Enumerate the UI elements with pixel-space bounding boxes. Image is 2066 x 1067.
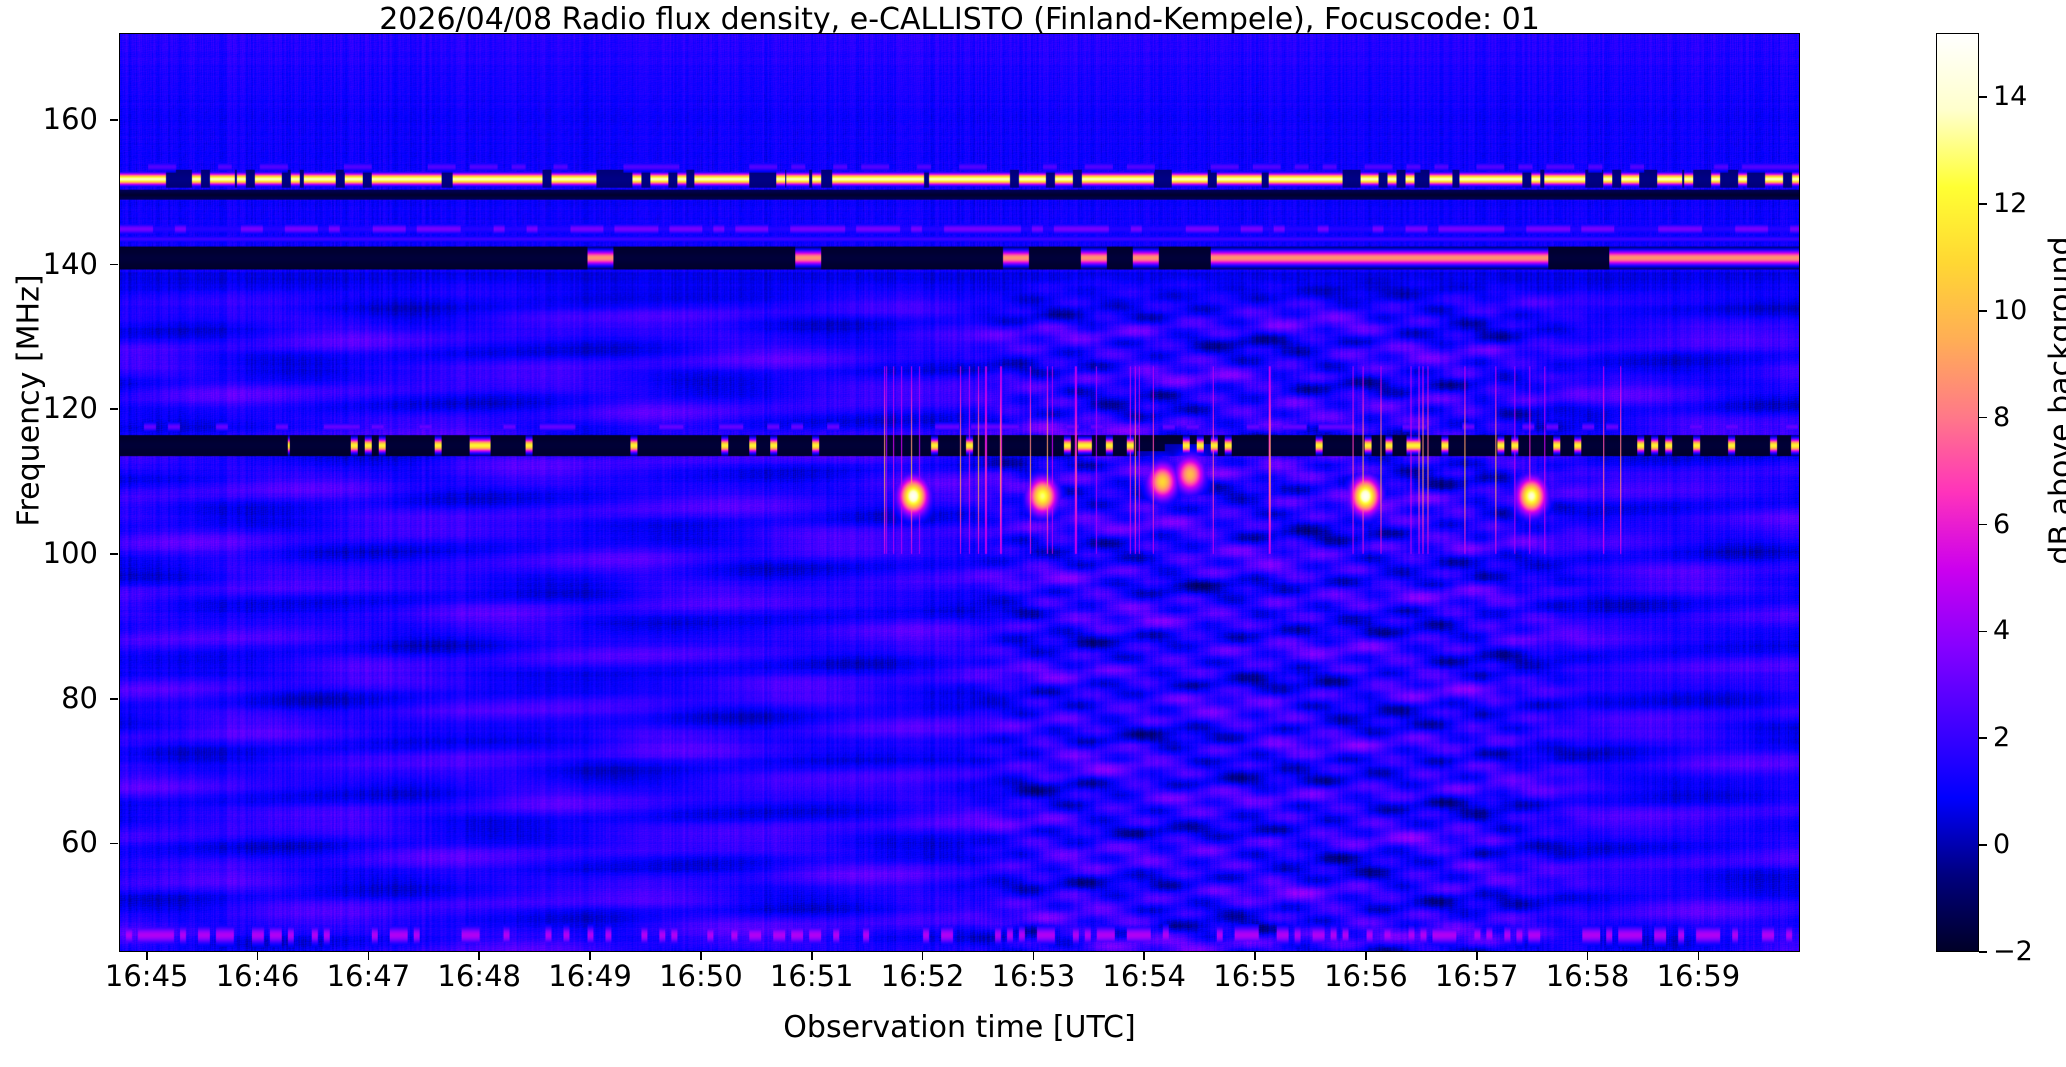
colorbar-tick-mark — [1979, 203, 1987, 205]
y-tick-mark — [110, 264, 118, 266]
colorbar-tick-label: 12 — [1993, 190, 2027, 217]
colorbar-gradient — [1937, 34, 1978, 951]
colorbar-tick-label: 0 — [1993, 831, 2010, 858]
x-tick-label: 16:59 — [1618, 962, 1778, 991]
y-tick-label: 140 — [0, 250, 98, 279]
figure-canvas: 2026/04/08 Radio flux density, e-CALLIST… — [0, 0, 2066, 1067]
spectrogram-image — [120, 34, 1799, 951]
y-tick-mark — [110, 553, 118, 555]
colorbar-tick-label: 14 — [1993, 83, 2027, 110]
colorbar-tick-mark — [1979, 631, 1987, 633]
y-tick-label: 100 — [0, 539, 98, 568]
colorbar-label: dB above background — [2044, 201, 2066, 601]
x-axis-label: Observation time [UTC] — [119, 1010, 1800, 1045]
y-tick-mark — [110, 698, 118, 700]
colorbar-tick-label: 2 — [1993, 724, 2010, 751]
colorbar-tick-mark — [1979, 96, 1987, 98]
colorbar-tick-mark — [1979, 417, 1987, 419]
colorbar-tick-label: −2 — [1993, 938, 2033, 965]
y-tick-mark — [110, 843, 118, 845]
colorbar-tick-label: 4 — [1993, 617, 2010, 644]
spectrogram-axes — [119, 33, 1800, 952]
colorbar-tick-mark — [1979, 844, 1987, 846]
colorbar-tick-mark — [1979, 737, 1987, 739]
y-tick-label: 80 — [0, 684, 98, 713]
colorbar-tick-mark — [1979, 524, 1987, 526]
spectrogram-pixels — [120, 34, 1799, 951]
colorbar-tick-mark — [1979, 310, 1987, 312]
colorbar-tick-label: 8 — [1993, 404, 2010, 431]
y-tick-label: 120 — [0, 394, 98, 423]
colorbar-tick-mark — [1979, 951, 1987, 953]
y-tick-label: 60 — [0, 828, 98, 857]
colorbar-axes — [1936, 33, 1979, 952]
y-tick-mark — [110, 119, 118, 121]
y-tick-label: 160 — [0, 105, 98, 134]
colorbar-tick-label: 6 — [1993, 511, 2010, 538]
colorbar-tick-label: 10 — [1993, 297, 2027, 324]
y-tick-mark — [110, 408, 118, 410]
